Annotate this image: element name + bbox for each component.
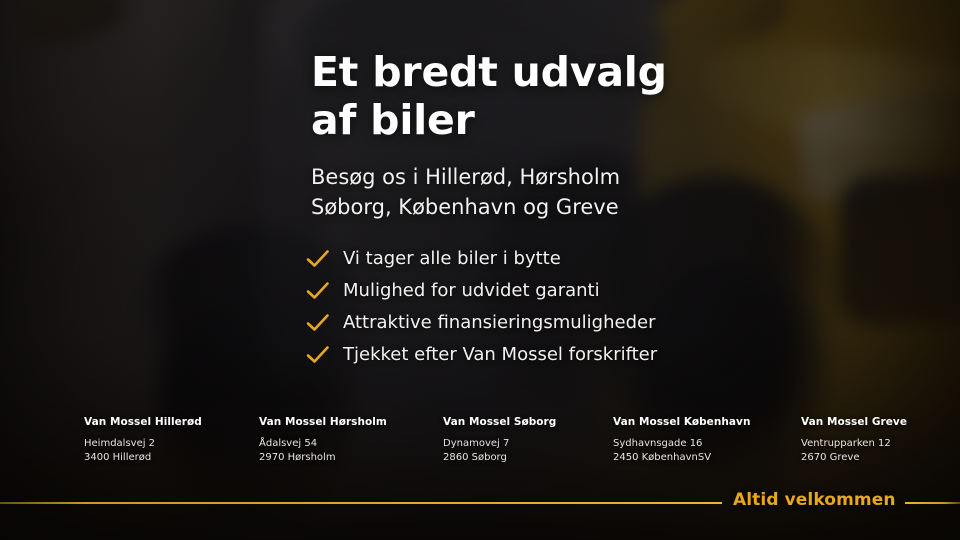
footer-bar: Altid velkommen [0, 495, 960, 517]
footer-rule-right [905, 502, 960, 504]
location-name: Van Mossel København [613, 416, 750, 428]
headline: Et bredt udvalg af biler [311, 49, 931, 145]
location-card: Van Mossel Søborg Dynamovej 7 2860 Søbor… [443, 416, 556, 465]
benefit-item: Attraktive finansieringsmuligheder [305, 309, 925, 339]
location-street: Ventrupparken 12 [801, 437, 907, 451]
benefit-item: Mulighed for udvidet garanti [305, 277, 925, 307]
benefit-label: Attraktive finansieringsmuligheder [343, 309, 655, 337]
location-name: Van Mossel Hillerød [84, 416, 202, 428]
headline-line-1: Et bredt udvalg [311, 48, 667, 96]
subtitle-line-2: Søborg, København og Greve [311, 193, 931, 223]
location-name: Van Mossel Søborg [443, 416, 556, 428]
location-street: Heimdalsvej 2 [84, 437, 202, 451]
location-name: Van Mossel Greve [801, 416, 907, 428]
subtitle: Besøg os i Hillerød, Hørsholm Søborg, Kø… [311, 163, 931, 223]
headline-line-2: af biler [311, 97, 931, 145]
check-icon [305, 344, 331, 366]
footer-rule-left [0, 502, 722, 504]
location-city: 2670 Greve [801, 451, 907, 465]
banner-content: Et bredt udvalg af biler Besøg os i Hill… [0, 0, 960, 540]
location-card: Van Mossel Hillerød Heimdalsvej 2 3400 H… [84, 416, 202, 465]
footer-tagline: Altid velkommen [733, 490, 896, 510]
benefit-label: Vi tager alle biler i bytte [343, 245, 561, 273]
check-icon [305, 312, 331, 334]
location-street: Dynamovej 7 [443, 437, 556, 451]
location-name: Van Mossel Hørsholm [259, 416, 387, 428]
location-city: 2860 Søborg [443, 451, 556, 465]
benefit-item: Tjekket efter Van Mossel forskrifter [305, 341, 925, 371]
location-city: 3400 Hillerød [84, 451, 202, 465]
benefits-list: Vi tager alle biler i bytte Mulighed for… [305, 245, 925, 373]
location-card: Van Mossel København Sydhavnsgade 16 245… [613, 416, 750, 465]
check-icon [305, 248, 331, 270]
check-icon [305, 280, 331, 302]
benefit-label: Mulighed for udvidet garanti [343, 277, 600, 305]
location-street: Ådalsvej 54 [259, 437, 387, 451]
location-card: Van Mossel Hørsholm Ådalsvej 54 2970 Hør… [259, 416, 387, 465]
location-city: 2450 KøbenhavnSV [613, 451, 750, 465]
location-city: 2970 Hørsholm [259, 451, 387, 465]
benefit-label: Tjekket efter Van Mossel forskrifter [343, 341, 657, 369]
location-street: Sydhavnsgade 16 [613, 437, 750, 451]
location-card: Van Mossel Greve Ventrupparken 12 2670 G… [801, 416, 907, 465]
subtitle-line-1: Besøg os i Hillerød, Hørsholm [311, 165, 620, 189]
dealership-locations: Van Mossel Hillerød Heimdalsvej 2 3400 H… [0, 416, 960, 472]
benefit-item: Vi tager alle biler i bytte [305, 245, 925, 275]
banner-stage: Et bredt udvalg af biler Besøg os i Hill… [0, 0, 960, 540]
